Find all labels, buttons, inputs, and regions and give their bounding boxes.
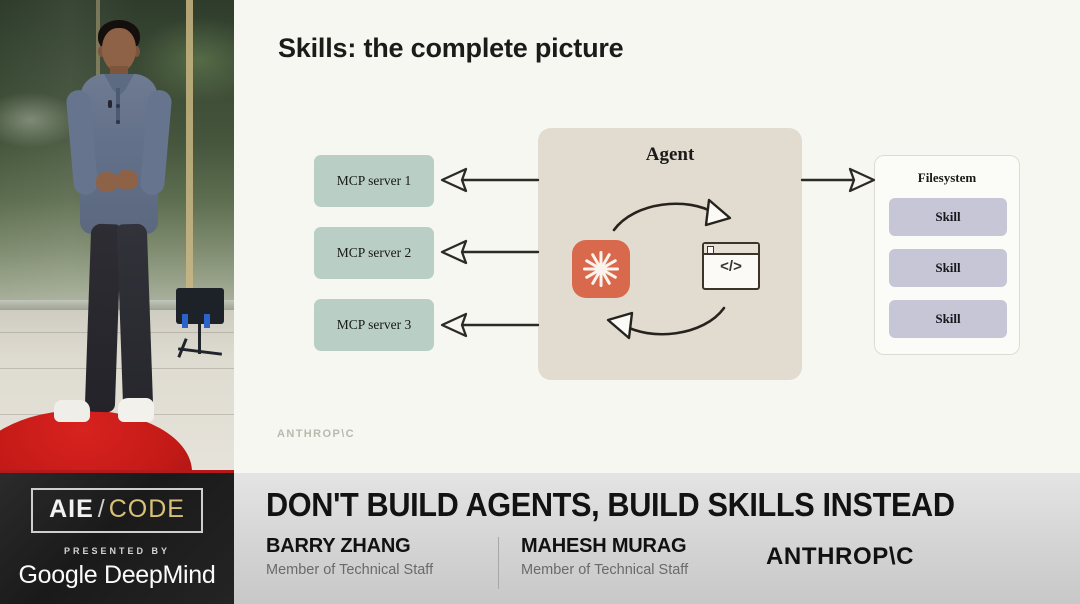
mcp-server-box[interactable]: MCP server 3 — [314, 299, 434, 351]
slide-canvas: Skills: the complete picture MCP server … — [234, 0, 1080, 473]
speaker-name: BARRY ZHANG — [266, 535, 498, 558]
slide-title: Skills: the complete picture — [278, 33, 624, 64]
presented-by-label: PRESENTED BY — [64, 546, 170, 556]
event-logo-panel: AIE / CODE PRESENTED BY Google DeepMind — [0, 473, 234, 604]
skill-box[interactable]: Skill — [889, 249, 1007, 287]
anthropic-watermark: ANTHROP\C — [277, 428, 355, 440]
logo-code-text: CODE — [109, 495, 185, 524]
credit-divider — [498, 537, 499, 589]
lapel-mic-icon — [108, 100, 112, 108]
presentation-stage: AIE / CODE PRESENTED BY Google DeepMind … — [0, 0, 1080, 604]
speaker-person — [58, 12, 178, 464]
speaker-camera-feed — [0, 0, 234, 473]
speaker-credits: BARRY ZHANG Member of Technical Staff MA… — [266, 535, 753, 589]
skill-box[interactable]: Skill — [889, 198, 1007, 236]
circular-arrows-icon — [538, 128, 802, 380]
speaker-role: Member of Technical Staff — [521, 562, 753, 578]
talk-headline: DON'T BUILD AGENTS, BUILD SKILLS INSTEAD — [266, 486, 955, 524]
agent-box[interactable]: Agent </> — [538, 128, 802, 380]
speaker-credit: BARRY ZHANG Member of Technical Staff — [266, 535, 498, 578]
mcp-server-box[interactable]: MCP server 2 — [314, 227, 434, 279]
mcp-server-box[interactable]: MCP server 1 — [314, 155, 434, 207]
mcp-server-column: MCP server 1 MCP server 2 MCP server 3 — [314, 155, 434, 371]
speaker-name: MAHESH MURAG — [521, 535, 753, 558]
skill-box[interactable]: Skill — [889, 300, 1007, 338]
anthropic-brand-logo: ANTHROP\C — [766, 543, 914, 571]
logo-slash: / — [98, 495, 105, 524]
logo-aie-text: AIE — [49, 495, 94, 524]
filesystem-box[interactable]: Filesystem Skill Skill Skill — [874, 155, 1020, 355]
filesystem-label: Filesystem — [875, 170, 1019, 186]
stage-light-icon — [176, 288, 224, 324]
window-mullion — [186, 0, 193, 300]
aie-code-logo: AIE / CODE — [31, 488, 203, 533]
speaker-role: Member of Technical Staff — [266, 562, 498, 578]
sponsor-logo: Google DeepMind — [18, 561, 215, 590]
lower-third-banner: DON'T BUILD AGENTS, BUILD SKILLS INSTEAD… — [234, 473, 1080, 604]
speaker-credit: MAHESH MURAG Member of Technical Staff — [521, 535, 753, 578]
